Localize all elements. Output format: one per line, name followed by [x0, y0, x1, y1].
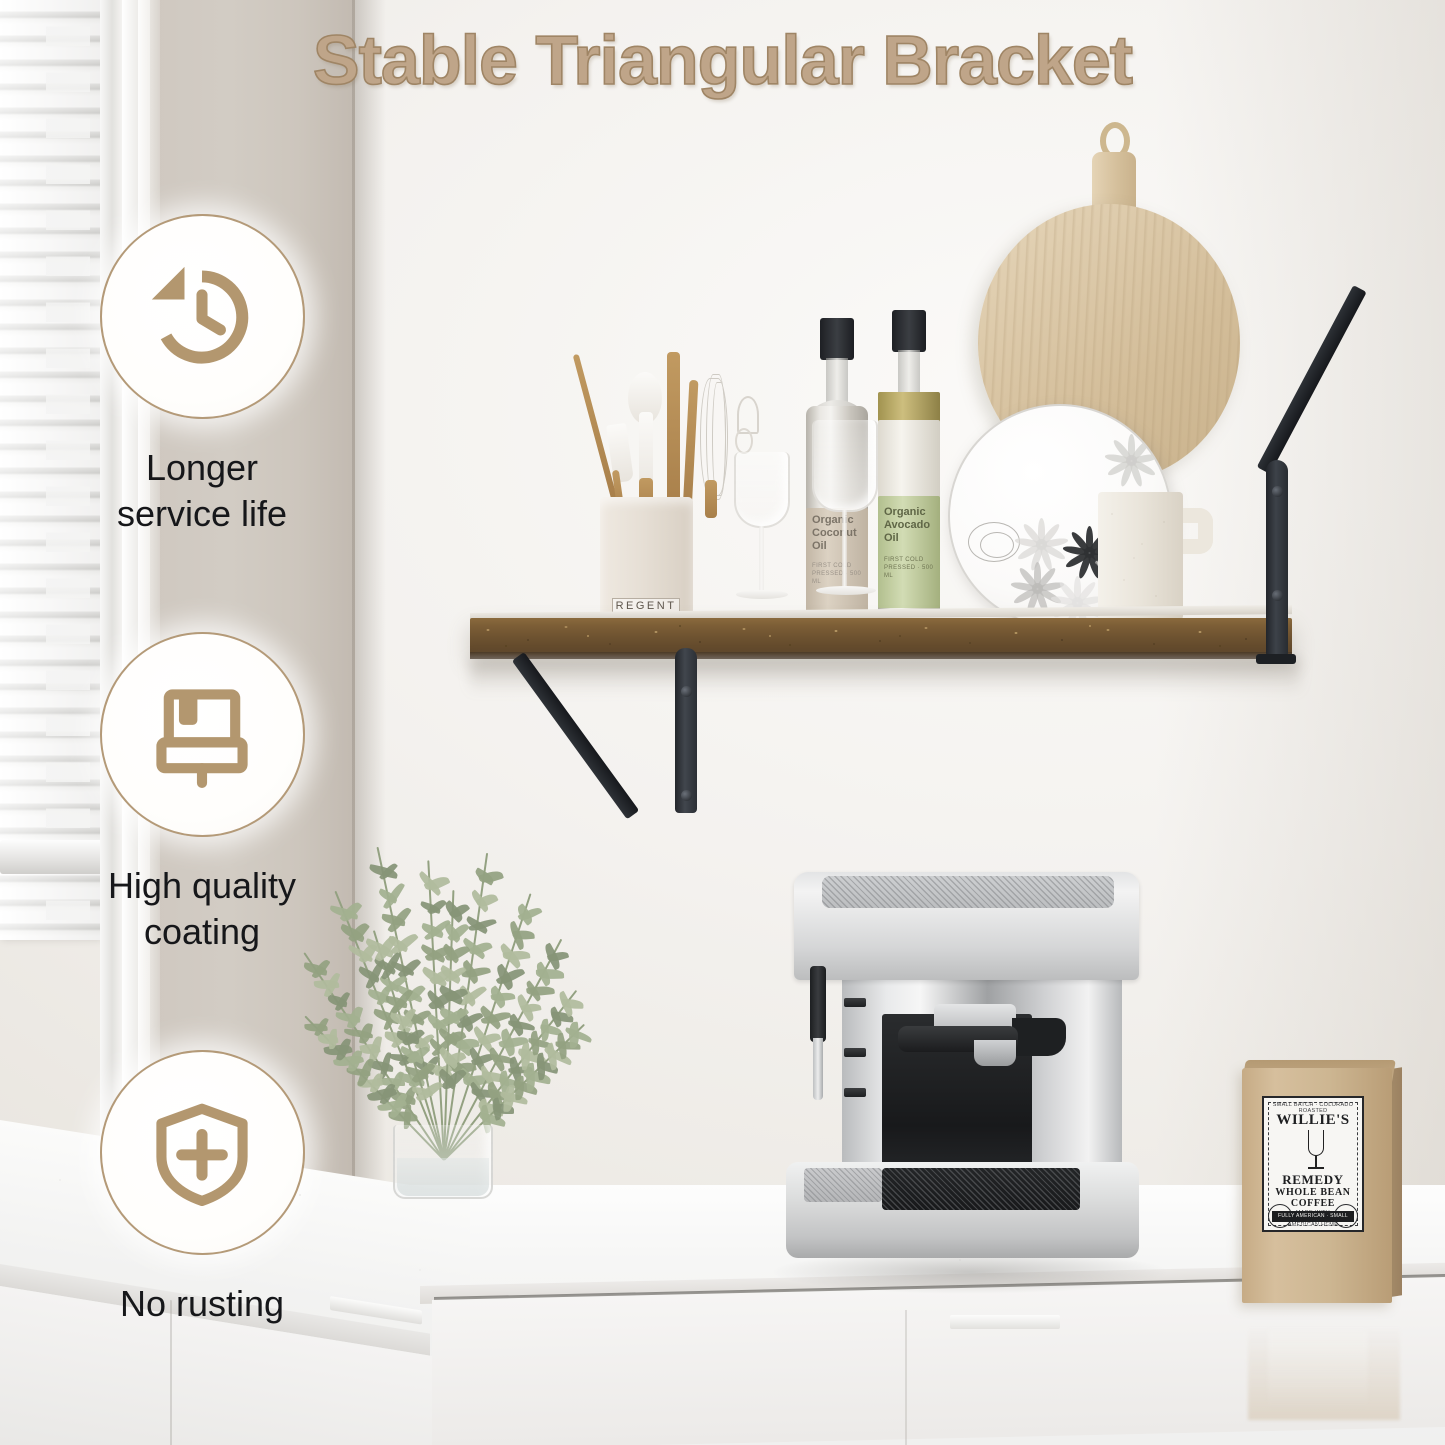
- feature-no-rusting: No rusting: [62, 1050, 342, 1327]
- bracket-diagonal-arm: [512, 652, 639, 819]
- clock-restore-icon: [143, 258, 261, 376]
- steam-wand-tip: [813, 1038, 823, 1100]
- portafilter-wings: [1012, 1018, 1066, 1056]
- product-scene: REGENT Organic Coconut Oil FIRST COLD PR…: [0, 0, 1445, 1445]
- cocktail-glass-icon: [1308, 1130, 1324, 1156]
- feature-label-line1: No rusting: [62, 1281, 342, 1327]
- coffee-brand: WILLIE'S: [1264, 1112, 1362, 1129]
- coffee-bag-label-reflection: [1268, 1330, 1368, 1410]
- glass-foot: [736, 590, 788, 599]
- bracket-foot: [1256, 654, 1296, 664]
- glass-bowl: [812, 420, 878, 512]
- feature-label-line2: coating: [62, 909, 342, 955]
- cup-warming-tray: [822, 876, 1114, 908]
- bottle-label-line2: Avocado: [884, 519, 930, 532]
- steam-wand: [810, 966, 826, 1042]
- triangular-bracket-right: [1188, 460, 1298, 660]
- machine-control-knob[interactable]: [844, 1048, 866, 1057]
- feature-label-line1: Longer: [62, 445, 342, 491]
- bottle-label-line1: Organic: [884, 506, 926, 519]
- bottle-neckband: [878, 392, 940, 422]
- coffee-bag-label: WILLIE'S SMALL BATCH · COLORADO ROASTED …: [1262, 1096, 1364, 1232]
- bottle-label-line2: Coconut: [812, 527, 857, 540]
- feature-high-quality-coating: High quality coating: [62, 632, 342, 955]
- feature-label-line1: High quality: [62, 863, 342, 909]
- feature-longer-service-life: Longer service life: [62, 214, 342, 537]
- plate-petal-center: [1032, 583, 1043, 594]
- window-frame-outer: [100, 0, 122, 1160]
- whisk-wire: [712, 382, 726, 496]
- bottle-label-line3: Oil: [884, 532, 899, 545]
- bottle-label-sub: FIRST COLD PRESSED · 500 ML: [812, 562, 864, 586]
- feature-label: High quality coating: [62, 863, 342, 955]
- page-title: Stable Triangular Bracket: [0, 20, 1445, 100]
- whisk-handle: [705, 480, 717, 518]
- coffee-line1: WHOLE BEAN: [1264, 1187, 1362, 1198]
- plant-leaf: [328, 1028, 336, 1048]
- window-sheer: [138, 0, 160, 1210]
- glass-stem: [759, 526, 764, 594]
- bracket-screw: [1272, 590, 1283, 601]
- coffee-product-name: REMEDY: [1264, 1172, 1362, 1188]
- bottle-label-line3: Oil: [812, 540, 827, 553]
- cocktail-glass-base-icon: [1308, 1167, 1324, 1169]
- machine-control-knob[interactable]: [844, 998, 866, 1007]
- bracket-screw: [681, 686, 692, 697]
- feature-label-line2: service life: [62, 491, 342, 537]
- feature-badge: [100, 214, 305, 419]
- bottle-cap: [820, 318, 854, 360]
- plate-ring-motif: [980, 532, 1014, 558]
- drip-tray: [882, 1168, 1080, 1210]
- glass-foot: [816, 586, 876, 595]
- bracket-vertical-arm: [675, 648, 697, 813]
- cabinet-handle-right: [950, 1315, 1060, 1329]
- window-frame-inner: [122, 0, 138, 1180]
- machine-base-mesh: [804, 1168, 882, 1202]
- feature-label: Longer service life: [62, 445, 342, 537]
- triangular-bracket-left: [520, 648, 705, 818]
- feature-badge: [100, 1050, 305, 1255]
- glass-bowl: [734, 452, 790, 528]
- cabinet-seam-right: [905, 1310, 907, 1445]
- feature-label: No rusting: [62, 1281, 342, 1327]
- utensil-rolling-pin: [667, 352, 680, 514]
- bracket-screw: [1272, 486, 1283, 497]
- portafilter-spout: [974, 1040, 1016, 1066]
- window-blinds: [0, 0, 156, 1230]
- plate-petal-center: [1126, 455, 1137, 466]
- machine-control-knob[interactable]: [844, 1088, 866, 1097]
- plate-flower: [1100, 430, 1162, 492]
- feature-badge: [100, 632, 305, 837]
- shield-plus-icon: [143, 1094, 261, 1212]
- espresso-machine: [786, 872, 1139, 1272]
- vase-water: [397, 1158, 489, 1196]
- coffee-footer-bar: FULLY AMERICAN · SMALL BATCH CRAFT: [1272, 1211, 1354, 1222]
- glass-stem: [842, 510, 847, 590]
- utensil-corkscrew-coil: [735, 428, 753, 454]
- bracket-screw: [681, 790, 692, 801]
- bottle-label-sub: FIRST COLD PRESSED · 500 ML: [884, 556, 936, 580]
- coffee-sub-top: SMALL BATCH · COLORADO ROASTED: [1264, 1102, 1362, 1114]
- paint-brush-icon: [143, 676, 261, 794]
- bottle-label-line1: Organic: [812, 514, 854, 527]
- plate-petal-center: [1036, 539, 1047, 550]
- bottle-cap: [892, 310, 926, 352]
- mug-speckle: [1098, 492, 1183, 620]
